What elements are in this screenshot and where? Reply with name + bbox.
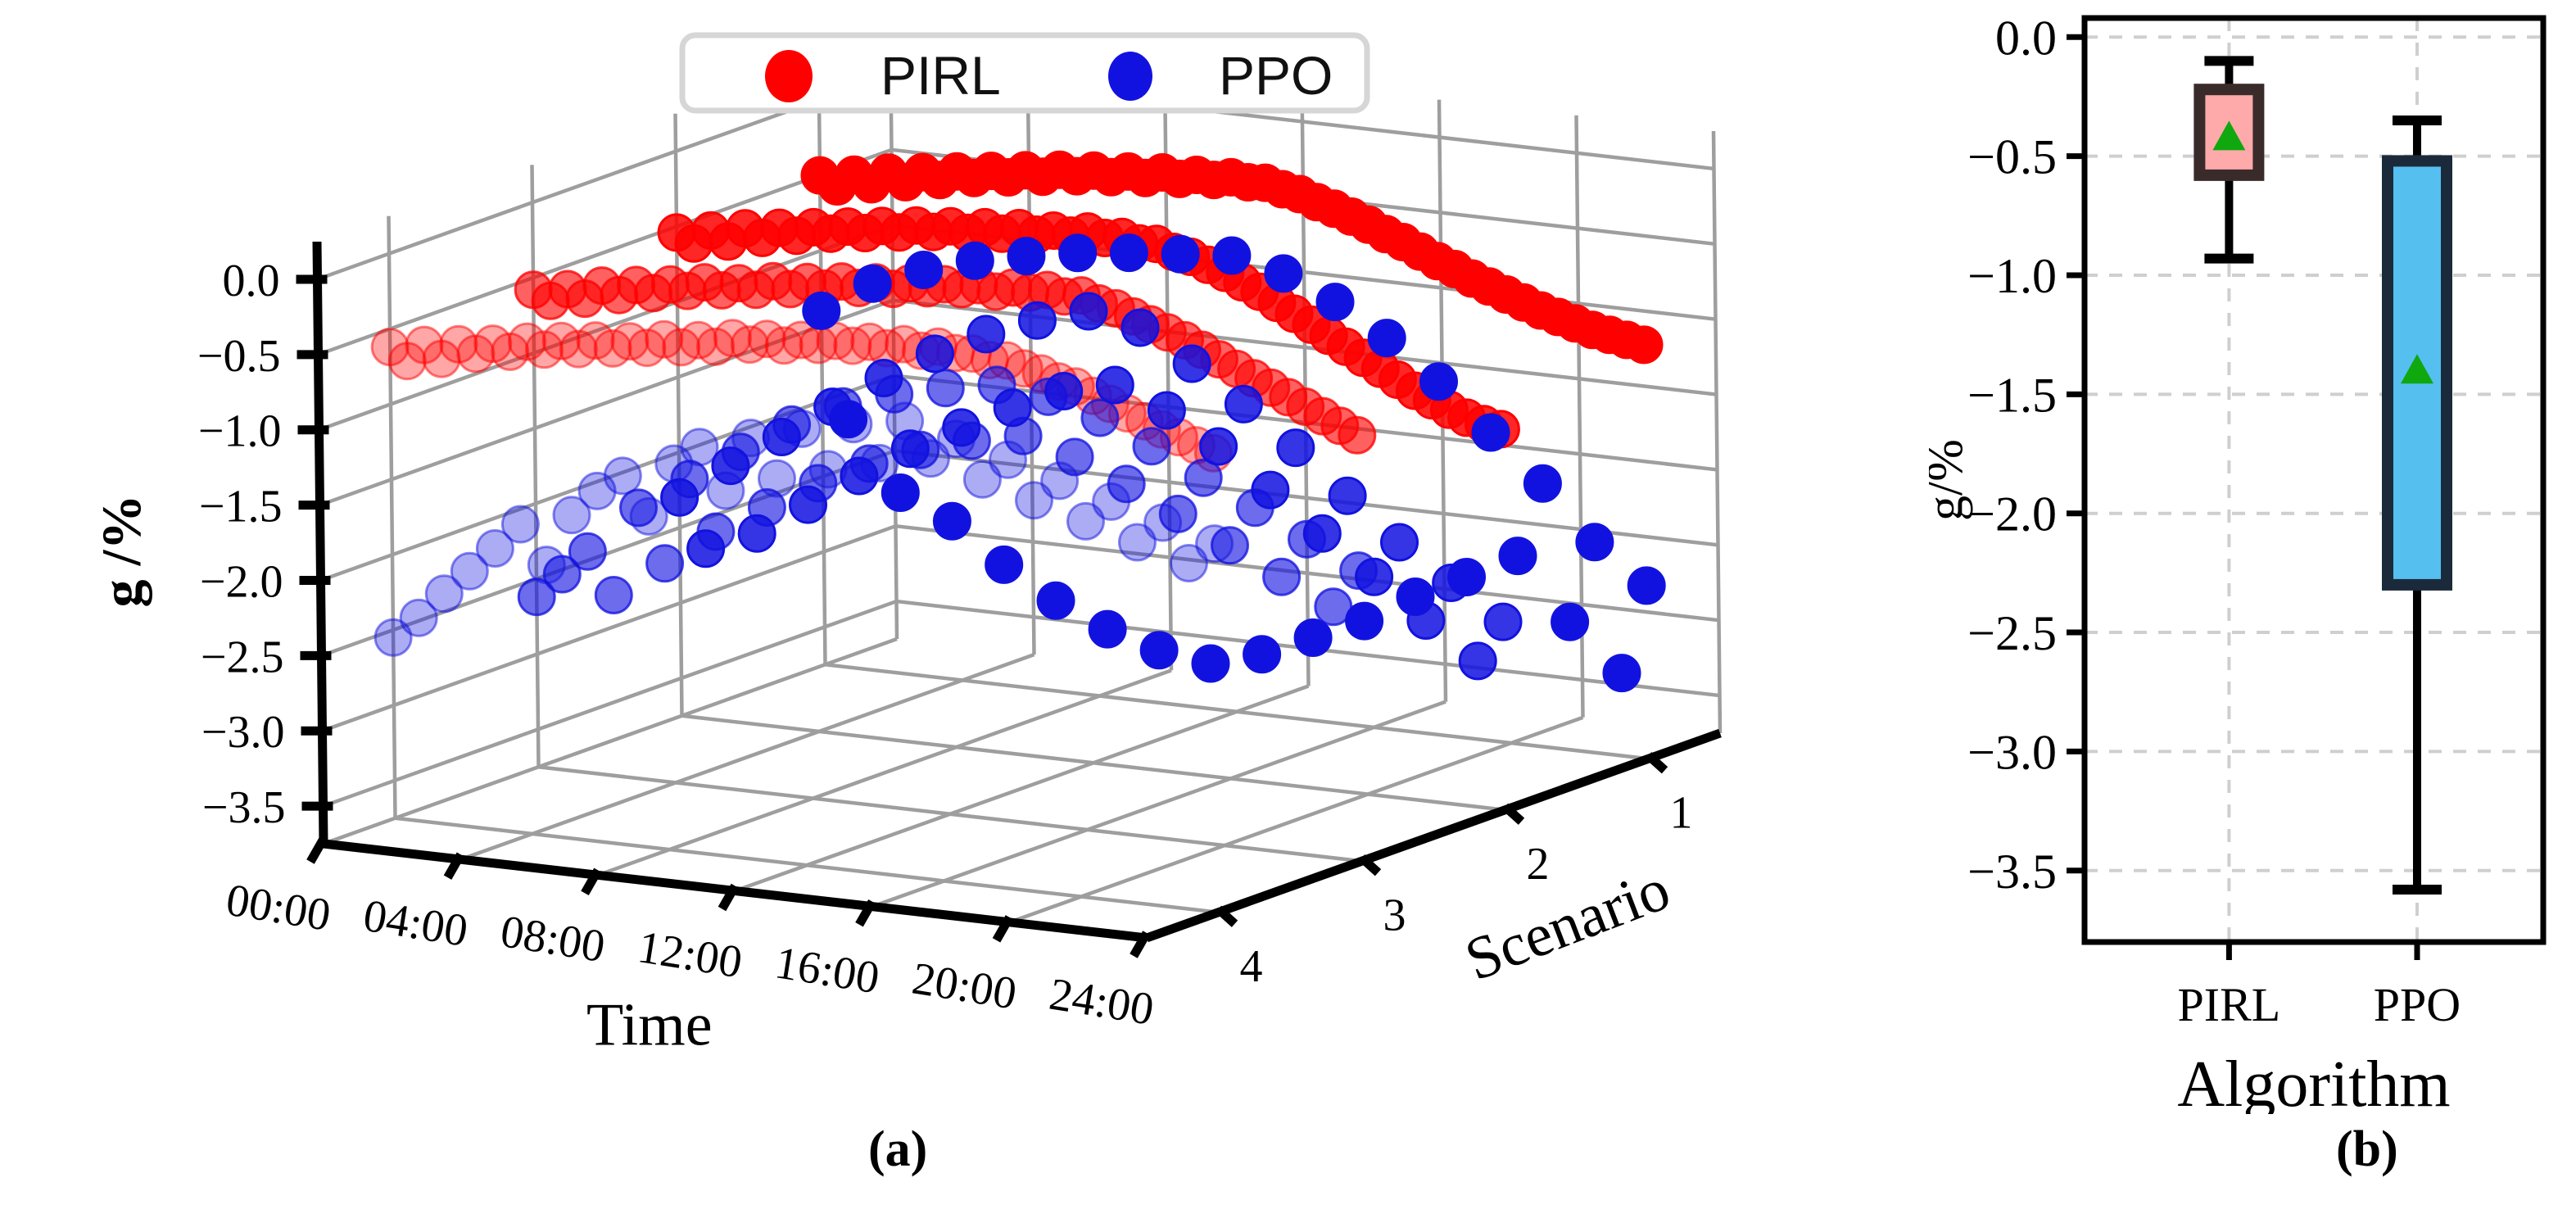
gridline-y-left [532,165,539,767]
y-tick-label: 4 [1240,941,1263,992]
boxplot-ppo[interactable] [2388,120,2447,890]
gridline-x-floor [736,686,1309,891]
scatter-point [1460,643,1496,679]
scatter-point [1193,645,1229,682]
scatter-point [1122,310,1158,346]
scatter-point [831,401,867,437]
z-axis-title: g /% [90,495,152,608]
figure-root: 0.0−0.5−1.0−1.5−2.0−2.5−3.0−3.500:0004:0… [0,0,2576,1223]
scatter-point [1111,235,1147,271]
scatter-point [1278,430,1314,466]
z-tick-label: −1.0 [198,406,282,457]
scatter-point [604,458,641,494]
y-tick-label: 0.0 [1995,11,2057,65]
z-tick-label: −1.5 [199,482,283,532]
scatter-point [1071,293,1107,329]
scatter-point [621,490,657,526]
scatter-point [790,487,826,523]
scatter-point [1295,620,1331,656]
scatter-point [1174,346,1210,382]
box-elements [2199,61,2447,890]
y-tick-label: −2.0 [1967,487,2057,541]
panel-a-3d-scatter: 0.0−0.5−1.0−1.5−2.0−2.5−3.0−3.500:0004:0… [0,0,1933,1114]
scatter-point [854,265,890,301]
z-tick-label: −3.5 [202,782,286,833]
x-axis-title: Time [586,992,713,1059]
scatter-point [595,578,632,614]
x-tick [310,839,324,862]
scatter-point [1162,236,1198,272]
scatter-point [1329,478,1365,514]
x-tick-label: PIRL [2178,978,2281,1031]
y-tick-label: −1.5 [1967,368,2057,422]
scatter-point [1500,538,1536,574]
scatter-point [1141,632,1177,668]
legend[interactable]: PIRL PPO [676,29,1380,119]
scatter-point [1577,524,1613,560]
y-tick-label: −1.0 [1967,249,2057,303]
scatter-point [1160,496,1196,532]
scatter-point [1304,515,1340,551]
gridline-x-floor [598,670,1171,875]
z-tick-label: −2.0 [200,556,283,607]
scatter-point [763,419,799,455]
y-tick-label: −0.5 [1967,130,2057,184]
scatter-point [1382,524,1418,560]
x-tick-label: 04:00 [360,890,471,957]
scatter-point [1524,465,1560,501]
scatter-point [1264,559,1300,595]
scatter-point [1212,528,1248,564]
z-tick-label: 0.0 [223,256,280,306]
scatter-point [1046,374,1082,410]
scatter-point [1485,604,1521,640]
gridline-x-back [1714,131,1720,733]
scatter-point [1339,417,1375,453]
scatter-point [804,292,840,328]
scatter-point [1317,284,1353,320]
x-tick-label: PPO [2374,978,2461,1031]
legend-label-ppo: PPO [1219,45,1333,106]
scatter-point [1214,238,1250,274]
scatter-point [681,429,718,465]
scatter-point [957,242,993,279]
y-tick-label: −3.0 [1967,725,2057,779]
scatter-point [892,431,928,467]
gridline-x-floor [324,639,897,844]
gridline-x-floor [461,655,1034,859]
scatter-point [1369,320,1405,356]
scatter-point [1552,604,1588,640]
scatter-point [1347,603,1383,639]
gridline-x-floor [872,702,1446,907]
scatter-point [934,503,970,539]
scatter-point [882,475,918,511]
scatter-point [1134,428,1170,464]
scatter-point [569,533,605,569]
scatter-point [739,515,775,551]
panel-caption-a: (a) [868,1121,927,1179]
x-tick-label: 12:00 [634,922,745,988]
scatter-point [1626,327,1662,363]
scatter-point [1038,582,1074,618]
scatter-point [866,360,902,396]
scatter-point [662,479,698,515]
x-tick-label: 24:00 [1046,969,1157,1035]
scatter-point [688,531,724,567]
scatter-point [1225,386,1261,422]
y-axis-title: Scenario [1456,855,1678,994]
scatter-point [1473,414,1509,451]
scatter-point [927,370,963,406]
scatter-point [1252,472,1288,508]
scatter-point [647,546,683,582]
scatter-point [1604,655,1640,691]
scatter-point [968,316,1004,352]
scatter-point [1019,302,1055,338]
x-tick-label: 16:00 [772,937,883,1003]
x-axis-title: Algorithm [2177,1049,2450,1114]
y-tick-label: −3.5 [1967,845,2057,899]
scatter-point [1097,367,1133,403]
y-tick-label: 1 [1670,787,1693,838]
y-tick-label: −2.5 [1967,606,2057,660]
scatter-point [1449,559,1485,596]
z-tick-label: −3.0 [201,707,285,758]
z-axis-spine [317,242,324,844]
x-tick-label: 20:00 [908,953,1020,1019]
scatter-point [1057,439,1093,475]
scatter-point [1356,559,1392,595]
scatter-point [1060,235,1096,271]
legend-label-pirl: PIRL [881,45,1001,106]
x-tick-label: 08:00 [497,906,609,972]
grid-dashed [2085,18,2543,942]
scatter-point [1628,568,1664,604]
panel-caption-b: (b) [2336,1121,2398,1179]
scatter-points-3d [372,152,1664,691]
gridline-y-left [389,216,396,818]
y-axis-title: g/% [1929,439,1973,521]
scatter-point [986,546,1022,582]
z-tick-label: −0.5 [197,331,281,382]
gridline-y-left [676,114,682,716]
z-tick-label: −2.5 [201,632,284,682]
scatter-point [1089,611,1125,647]
scatter-point [1265,256,1302,292]
scatter-point [1201,428,1237,464]
scatter-point [1008,238,1044,274]
scatter-point [502,506,538,542]
scatter-point [1082,400,1118,436]
scatter-point [1397,579,1433,615]
scatter-point [1421,364,1457,400]
y-tick-label: 2 [1527,839,1550,890]
panel-b-boxplot: 0.0−0.5−1.0−1.5−2.0−2.5−3.0−3.5PIRLPPO g… [1929,0,2576,1114]
scatter-point [1108,466,1144,502]
x-tick-label: 00:00 [223,875,334,941]
scatter-point [1244,636,1280,673]
y-tick-label: 3 [1383,890,1406,940]
scatter-point [906,252,942,288]
scatter-point [994,390,1030,426]
scatter-point [1148,392,1184,428]
gridline-x-floor [1010,718,1583,922]
scatter-point [944,410,980,446]
scatter-point [713,448,749,484]
scatter-point [841,458,877,494]
legend-marker-pirl [765,50,813,102]
boxplot-pirl[interactable] [2199,61,2258,258]
scatter-point [917,336,953,372]
legend-marker-ppo [1108,52,1152,101]
